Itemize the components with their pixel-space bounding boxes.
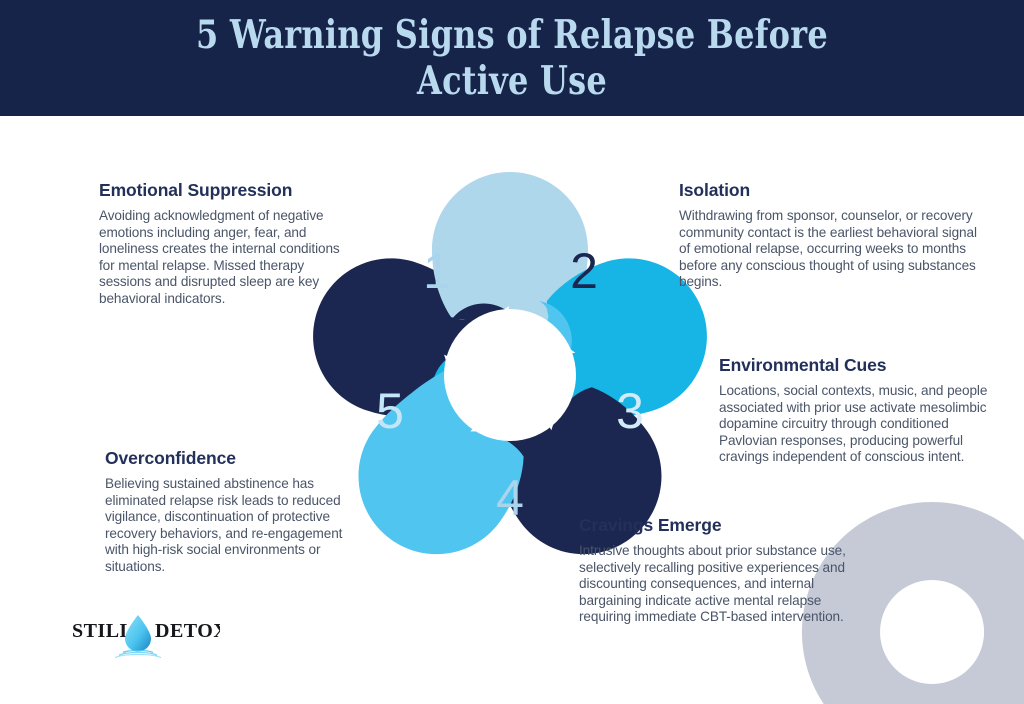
petal-number-5: 5 <box>376 383 404 439</box>
section-isolation: Isolation Withdrawing from sponsor, coun… <box>679 180 984 291</box>
section-body: Intrusive thoughts about prior substance… <box>579 543 859 626</box>
section-body: Avoiding acknowledgment of negative emot… <box>99 208 349 308</box>
section-heading: Emotional Suppression <box>99 180 349 201</box>
logo-text-right: DETOX <box>155 620 220 642</box>
still-detox-logo: STILL DETOX <box>70 610 220 658</box>
section-overconfidence: Overconfidence Believing sustained absti… <box>105 448 350 576</box>
section-cravings-emerge: Cravings Emerge Intrusive thoughts about… <box>579 515 859 626</box>
petal-number-3: 3 <box>616 383 644 439</box>
section-heading: Overconfidence <box>105 448 350 469</box>
pinwheel-center-hub <box>444 309 576 441</box>
infographic-canvas: 5 Warning Signs of Relapse Before Active… <box>0 0 1024 704</box>
petal-number-1: 1 <box>423 243 451 299</box>
section-body: Locations, social contexts, music, and p… <box>719 383 999 466</box>
petal-number-2: 2 <box>570 243 598 299</box>
section-heading: Environmental Cues <box>719 355 999 376</box>
logo-text-left: STILL <box>72 620 133 642</box>
section-heading: Cravings Emerge <box>579 515 859 536</box>
section-environmental-cues: Environmental Cues Locations, social con… <box>719 355 999 466</box>
section-heading: Isolation <box>679 180 984 201</box>
section-emotional-suppression: Emotional Suppression Avoiding acknowled… <box>99 180 349 308</box>
header-banner: 5 Warning Signs of Relapse Before Active… <box>0 0 1024 116</box>
page-title: 5 Warning Signs of Relapse Before Active… <box>159 12 864 104</box>
section-body: Withdrawing from sponsor, counselor, or … <box>679 208 984 291</box>
section-body: Believing sustained abstinence has elimi… <box>105 476 350 576</box>
petal-number-4: 4 <box>496 470 524 526</box>
